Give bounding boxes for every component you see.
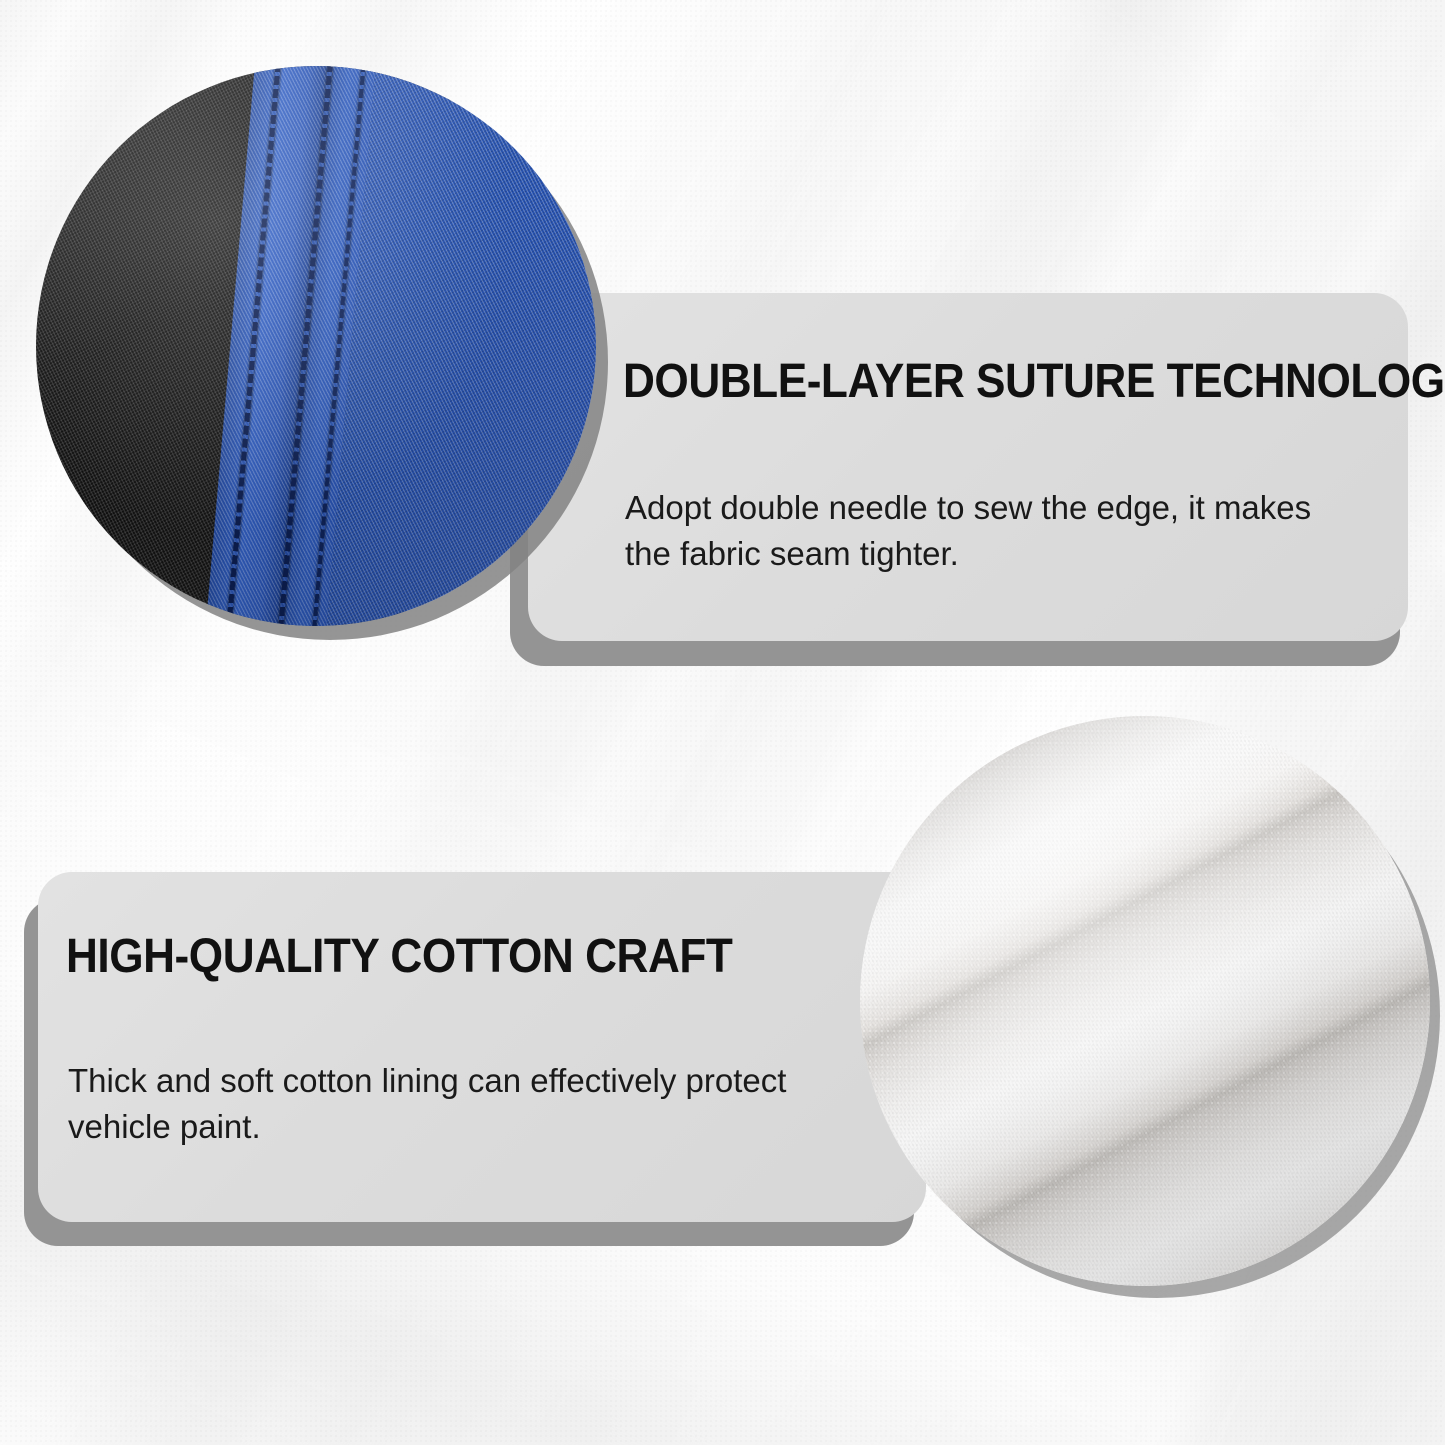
feature-title-cotton: HIGH-QUALITY COTTON CRAFT bbox=[66, 930, 857, 984]
product-feature-infographic: DOUBLE-LAYER SUTURE TECHNOLOGY Adopt dou… bbox=[0, 0, 1445, 1445]
feature-body-cotton: Thick and soft cotton lining can effecti… bbox=[68, 1058, 828, 1150]
feature-body-wrap-suture: Adopt double needle to sew the edge, it … bbox=[625, 485, 1355, 577]
feature-title-suture: DOUBLE-LAYER SUTURE TECHNOLOGY bbox=[623, 355, 1345, 409]
feature-title-wrap-suture: DOUBLE-LAYER SUTURE TECHNOLOGY bbox=[623, 355, 1408, 409]
feature-card-cotton: HIGH-QUALITY COTTON CRAFT Thick and soft… bbox=[38, 872, 926, 1222]
feature-title-wrap-cotton: HIGH-QUALITY COTTON CRAFT bbox=[66, 930, 926, 984]
cotton-texture-grain bbox=[860, 716, 1430, 1286]
feature-body-wrap-cotton: Thick and soft cotton lining can effecti… bbox=[68, 1058, 828, 1150]
feature-card-suture: DOUBLE-LAYER SUTURE TECHNOLOGY Adopt dou… bbox=[528, 293, 1408, 641]
feature-body-suture: Adopt double needle to sew the edge, it … bbox=[625, 485, 1355, 577]
cotton-lining-photo bbox=[860, 716, 1430, 1286]
seam-closeup-photo bbox=[36, 66, 596, 626]
